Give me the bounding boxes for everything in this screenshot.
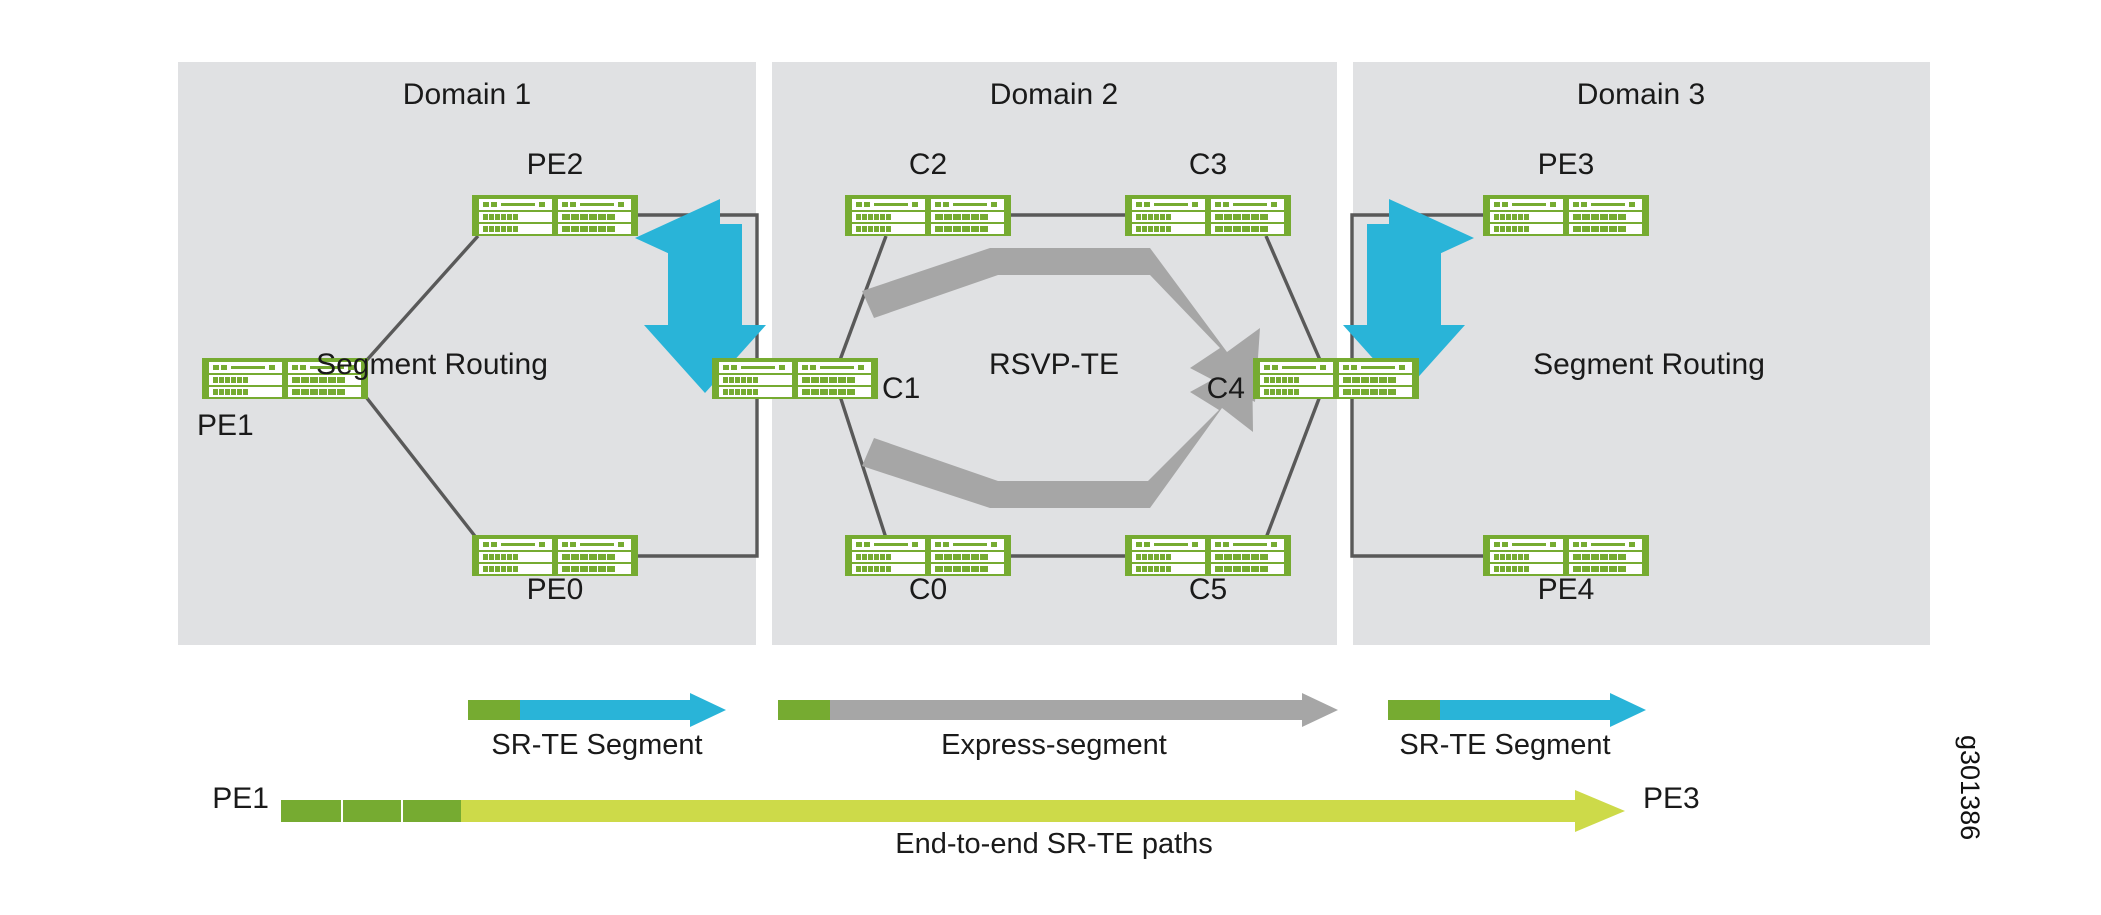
- network-topology-svg: [0, 0, 2101, 915]
- endtoend-end-label: PE3: [1643, 782, 1700, 816]
- router-label-pe4: PE4: [1538, 573, 1595, 607]
- domain-title-domain-1: Domain 1: [403, 78, 531, 112]
- endtoend-segment-1: [281, 800, 341, 822]
- legend-arrow-legend-sr-te-left: [468, 693, 726, 727]
- router-label-c4: C4: [1207, 372, 1245, 406]
- legend-arrowhead: [1610, 693, 1646, 727]
- router-icon-pe2[interactable]: [472, 195, 638, 236]
- router-label-pe0: PE0: [527, 573, 584, 607]
- router-icon-c5[interactable]: [1125, 535, 1291, 576]
- router-icon-c2[interactable]: [845, 195, 1011, 236]
- router-label-c3: C3: [1189, 148, 1227, 182]
- endtoend-segment-2: [343, 800, 401, 822]
- router-icon-c0[interactable]: [845, 535, 1011, 576]
- router-icon-c4[interactable]: [1253, 358, 1419, 399]
- legend-label-legend-express: Express-segment: [941, 729, 1167, 762]
- protocol-label-domain-1: Segment Routing: [316, 348, 548, 382]
- router-icon-pe0[interactable]: [472, 535, 638, 576]
- end-to-end-path-bar: [281, 790, 1625, 832]
- legend-stub: [1388, 700, 1440, 720]
- legend-arrowhead: [690, 693, 726, 727]
- legend-shaft: [520, 700, 690, 720]
- router-label-pe1: PE1: [197, 409, 254, 443]
- endtoend-arrowhead: [1575, 790, 1625, 832]
- domain-title-domain-2: Domain 2: [990, 78, 1118, 112]
- legend-arrow-legend-express: [778, 693, 1338, 727]
- legend-shaft: [830, 700, 1302, 720]
- protocol-label-domain-3: Segment Routing: [1533, 348, 1765, 382]
- endtoend-segment-3: [403, 800, 461, 822]
- diagram-canvas: Domain 1Segment RoutingDomain 2RSVP-TEDo…: [0, 0, 2101, 915]
- legend-label-legend-sr-te-right: SR-TE Segment: [1399, 729, 1610, 762]
- legend-shaft: [1440, 700, 1610, 720]
- endtoend-start-label: PE1: [212, 782, 269, 816]
- protocol-label-domain-2: RSVP-TE: [989, 348, 1119, 382]
- router-icon-pe4[interactable]: [1483, 535, 1649, 576]
- router-icon-pe3[interactable]: [1483, 195, 1649, 236]
- legend-label-legend-sr-te-left: SR-TE Segment: [491, 729, 702, 762]
- legend-arrowhead: [1302, 693, 1338, 727]
- legend-stub: [468, 700, 520, 720]
- endtoend-caption: End-to-end SR-TE paths: [895, 828, 1213, 861]
- router-label-c0: C0: [909, 573, 947, 607]
- legend-stub: [778, 700, 830, 720]
- router-icon-c3[interactable]: [1125, 195, 1291, 236]
- router-label-pe2: PE2: [527, 148, 584, 182]
- router-label-c2: C2: [909, 148, 947, 182]
- router-label-pe3: PE3: [1538, 148, 1595, 182]
- router-label-c5: C5: [1189, 573, 1227, 607]
- figure-watermark: g301386: [1954, 735, 1985, 840]
- router-label-c1: C1: [882, 372, 920, 406]
- legend-arrow-legend-sr-te-right: [1388, 693, 1646, 727]
- endtoend-shaft: [461, 800, 1575, 822]
- router-icon-c1[interactable]: [712, 358, 878, 399]
- domain-title-domain-3: Domain 3: [1577, 78, 1705, 112]
